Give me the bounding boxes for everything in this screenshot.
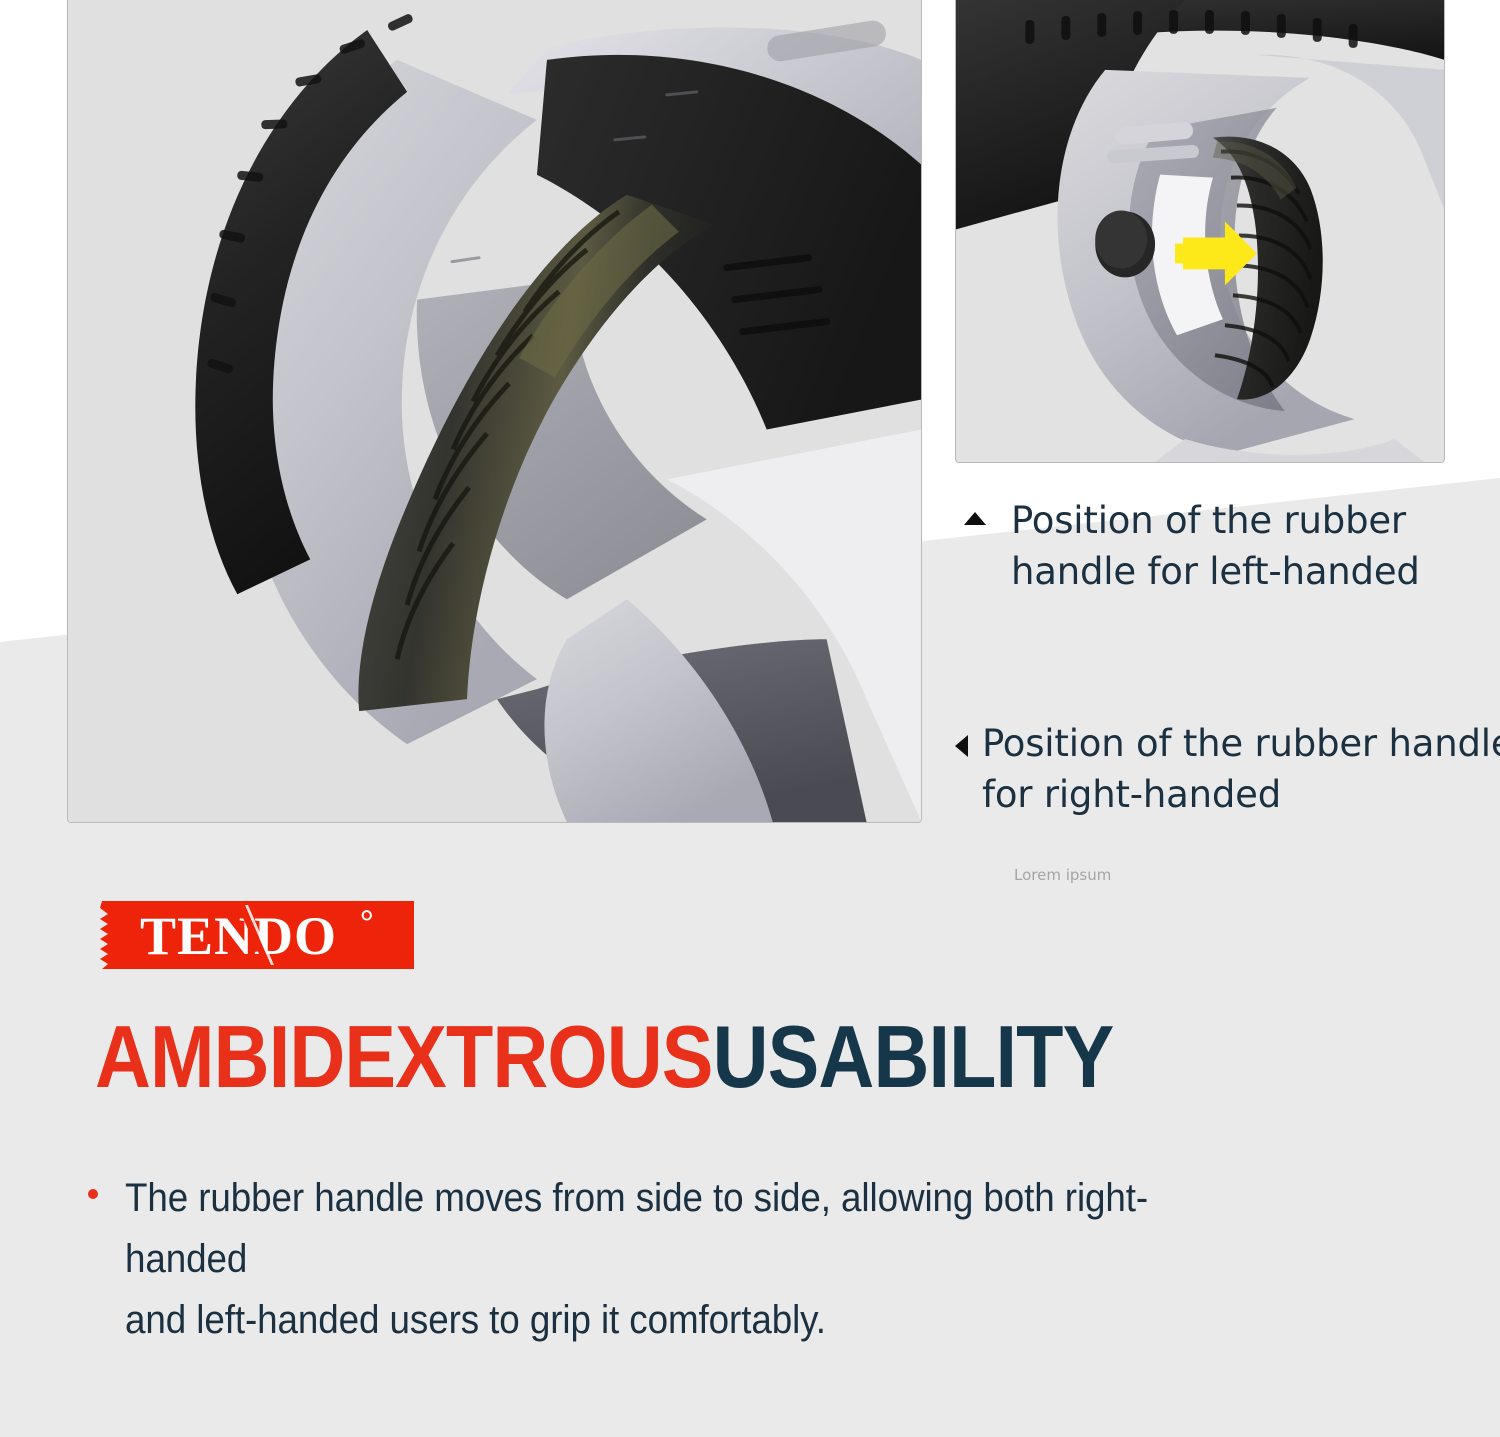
headline-ambidextrous: AMBIDEXTROUS	[95, 1007, 713, 1106]
callout-left-handed: Position of the rubber handle for left-h…	[958, 495, 1500, 597]
product-render-inset	[956, 0, 1444, 462]
tendo-logo: TENDO °	[88, 897, 414, 973]
callout-left-handed-text: Position of the rubber handle for left-h…	[1011, 495, 1420, 597]
main-product-image-panel	[67, 0, 922, 823]
feature-bullet-text: The rubber handle moves from side to sid…	[125, 1168, 1259, 1350]
headline-usability: USABILITY	[713, 1007, 1114, 1106]
tendo-logo-degree: °	[360, 904, 374, 941]
lorem-ipsum-caption: Lorem ipsum	[1014, 866, 1111, 884]
inset-detail-image-panel	[955, 0, 1445, 463]
callout-right-handed: Position of the rubber handle for right-…	[950, 718, 1500, 820]
infographic-page: Position of the rubber handle for left-h…	[0, 0, 1500, 1437]
tendo-logo-graphic: TENDO °	[88, 897, 414, 973]
bullet-dot-icon	[88, 1189, 98, 1199]
callout-right-handed-text: Position of the rubber handle for right-…	[982, 718, 1500, 820]
triangle-up-icon	[964, 512, 986, 525]
triangle-left-icon	[955, 735, 968, 757]
page-title: AMBIDEXTROUSUSABILITY	[95, 1013, 1113, 1101]
product-render-main	[68, 0, 921, 822]
tendo-logo-text: TENDO	[140, 906, 337, 966]
feature-bullet: The rubber handle moves from side to sid…	[88, 1168, 1358, 1350]
